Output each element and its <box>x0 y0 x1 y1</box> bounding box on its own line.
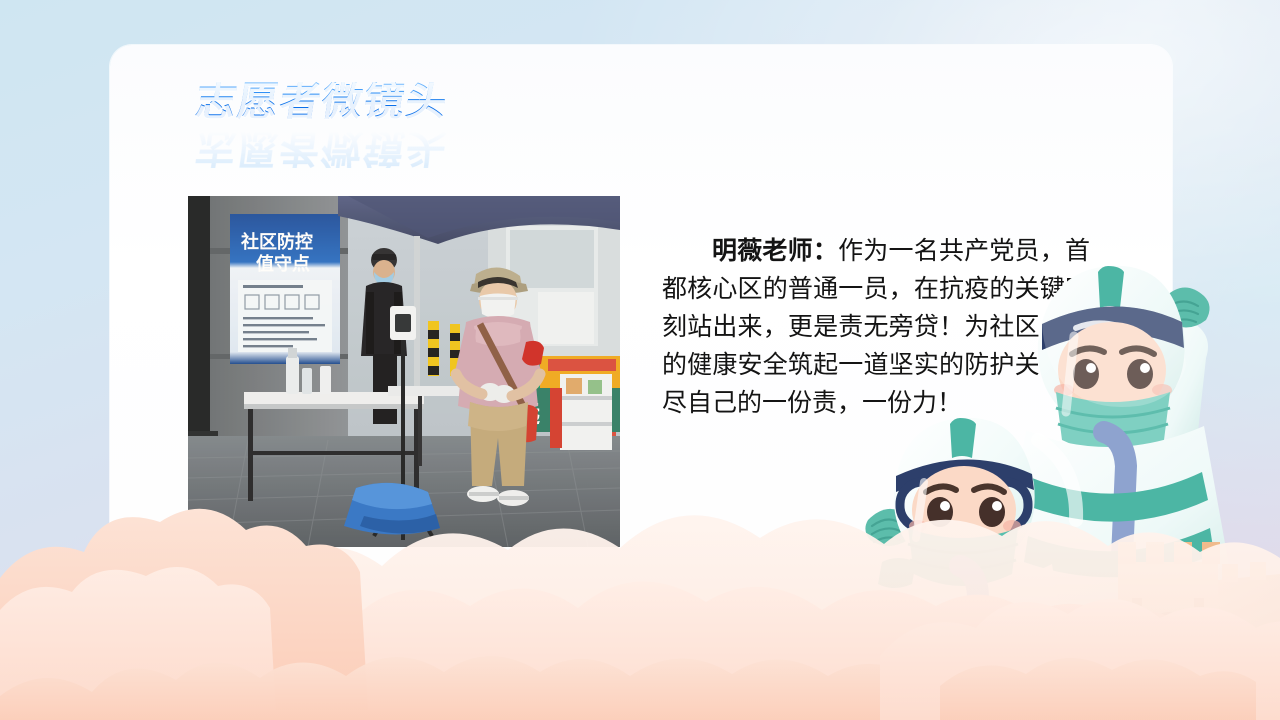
page-title-text: 志愿者微镜头 <box>193 82 619 122</box>
page-title: 志愿者微镜头 志愿者微镜头 <box>196 82 616 166</box>
page-title-reflection: 志愿者微镜头 <box>193 128 451 168</box>
checkpoint-photo-graphic: 健康防护 就选 东易 社区防控 值守点 <box>188 196 620 547</box>
quote-text: 明薇老师：作为一名共产党员，首都核心区的普通一员，在抗疫的关键时刻站出来，更是责… <box>662 232 1090 422</box>
checkpoint-photo: 健康防护 就选 东易 社区防控 值守点 <box>188 196 620 547</box>
quote-speaker-name: 明薇老师： <box>712 236 838 265</box>
